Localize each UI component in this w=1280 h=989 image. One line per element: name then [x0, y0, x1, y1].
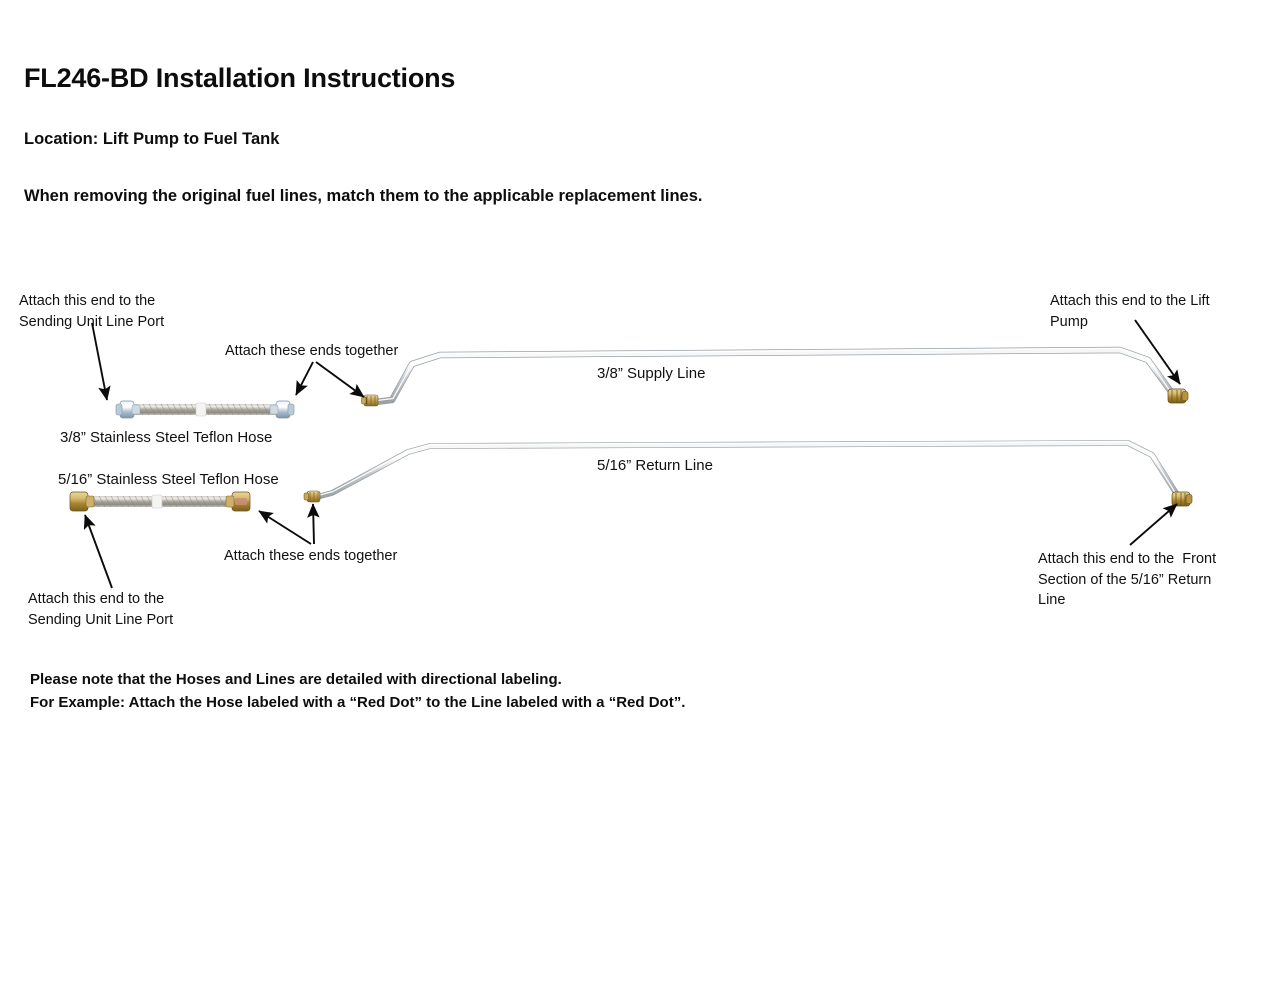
arrow-return-hose-sending-unit: [85, 515, 112, 588]
hose-38-braid: [128, 404, 280, 415]
callout-return-ends-together: Attach these ends together: [224, 546, 397, 567]
hose-38-center-tag: [196, 403, 206, 416]
supply-line-graphic: [362, 349, 1189, 407]
hose-516-braid: [84, 496, 236, 507]
supply-line-highlight: [377, 349, 1170, 401]
supply-line-tube: [375, 350, 1172, 402]
supply-line-left-brass-fitting: [362, 395, 379, 406]
return-line-graphic: [304, 442, 1192, 507]
arrow-supply-hose-sending-unit: [92, 323, 107, 400]
hose-516-graphic: [70, 492, 250, 511]
arrow-supply-ends-line: [316, 362, 364, 397]
instruction-statement: When removing the original fuel lines, m…: [24, 186, 702, 207]
arrow-return-ends-line: [313, 504, 314, 544]
supply-line-tube-shadow: [375, 350, 1172, 402]
red-dot-marking: [235, 498, 247, 505]
label-hose-38: 3/8” Stainless Steel Teflon Hose: [60, 429, 272, 446]
arrow-supply-ends-hose: [296, 362, 313, 395]
hose-516-left-brass-fitting: [70, 492, 94, 511]
page-title: FL246-BD Installation Instructions: [24, 62, 455, 96]
hose-38-left-chrome-fitting: [116, 401, 140, 418]
callout-supply-ends-together: Attach these ends together: [225, 341, 398, 362]
supply-line-right-brass-fitting: [1168, 389, 1188, 403]
hose-516-center-tag: [152, 495, 162, 508]
return-line-tube-shadow: [317, 443, 1178, 497]
return-line-highlight: [318, 442, 1176, 496]
location-subtitle: Location: Lift Pump to Fuel Tank: [24, 129, 279, 150]
hose-38-right-chrome-fitting: [270, 401, 294, 418]
hose-516-right-brass-fitting: [226, 492, 250, 511]
callout-return-front-section: Attach this end to the Front Section of …: [1038, 549, 1216, 611]
callout-supply-hose-sending-unit: Attach this end to the Sending Unit Line…: [19, 291, 164, 332]
arrow-return-front-section: [1130, 504, 1177, 545]
label-hose-516: 5/16” Stainless Steel Teflon Hose: [58, 471, 279, 488]
footer-note: Please note that the Hoses and Lines are…: [30, 668, 685, 715]
label-return-line: 5/16” Return Line: [597, 457, 713, 474]
footer-note-line-1: Please note that the Hoses and Lines are…: [30, 671, 562, 688]
arrow-return-ends-hose: [259, 511, 311, 544]
instruction-sheet-page: FL246-BD Installation Instructions Locat…: [0, 0, 1280, 989]
return-line-right-brass-fitting: [1172, 492, 1192, 506]
footer-note-line-2: For Example: Attach the Hose labeled wit…: [30, 694, 685, 711]
return-line-tube: [317, 443, 1178, 497]
return-line-left-brass-fitting: [304, 491, 320, 502]
hose-38-braid-weave: [131, 404, 269, 415]
hose-38-graphic: [116, 401, 294, 418]
callout-return-hose-sending-unit: Attach this end to the Sending Unit Line…: [28, 589, 173, 630]
callout-lift-pump: Attach this end to the Lift Pump: [1050, 291, 1210, 332]
label-supply-line: 3/8” Supply Line: [597, 365, 705, 382]
hose-516-braid-weave: [87, 496, 225, 507]
